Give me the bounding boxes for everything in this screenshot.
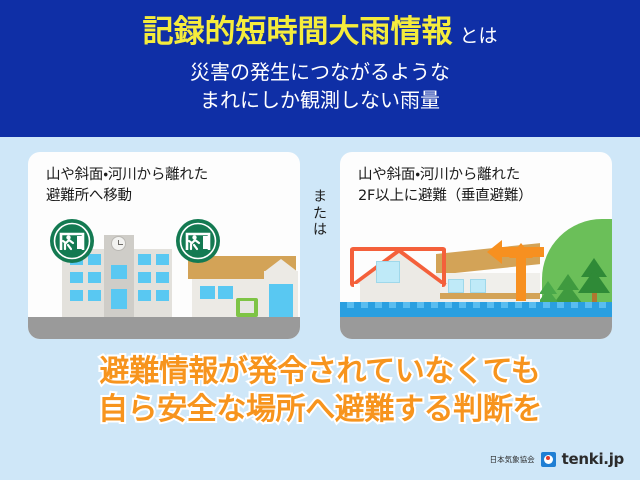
signboard <box>236 298 258 317</box>
evacuation-shelter-badge-icon <box>176 219 220 263</box>
header-banner: 記録的短時間大雨情報 とは 災害の発生につながるような まれにしか観測しない雨量 <box>0 0 640 137</box>
window <box>70 290 83 301</box>
or-connector-char-3: は <box>306 222 334 239</box>
community-hall-door <box>269 284 293 317</box>
association-name: 日本気象協会 <box>490 454 535 465</box>
right-panel-caption-line-2: 2F以上に避難（垂直避難） <box>358 186 604 207</box>
call-to-action-banner: 避難情報が発令されていなくても 自ら安全な場所へ避難する判断を 日本気象協会 t… <box>0 344 640 480</box>
options-section: 山や斜面・河川から離れた 避難所へ移動 <box>0 137 640 344</box>
page-title-suffix: とは <box>459 27 497 46</box>
window <box>88 272 101 283</box>
left-panel-caption-line-1: 山や斜面・河川から離れた <box>46 165 292 186</box>
highlight-window <box>376 261 400 283</box>
window <box>138 254 151 265</box>
or-connector: ま た は <box>306 189 334 239</box>
left-panel-caption: 山や斜面・河川から離れた 避難所へ移動 <box>46 165 292 207</box>
cta-line-1: 避難情報が発令されていなくても <box>100 353 541 391</box>
infographic-canvas: 記録的短時間大雨情報 とは 災害の発生につながるような まれにしか観測しない雨量… <box>0 0 640 480</box>
ground-strip <box>340 317 612 339</box>
brand-name: tenki.jp <box>562 450 624 468</box>
window <box>70 272 83 283</box>
option-panel-vertical-evacuation: 山や斜面・河川から離れた 2F以上に避難（垂直避難） <box>340 152 612 339</box>
window <box>138 272 151 283</box>
window <box>111 265 127 279</box>
window <box>218 286 233 299</box>
window <box>138 290 151 301</box>
header-subtitle-line-2: まれにしか観測しない雨量 <box>190 87 450 115</box>
tenki-jp-cube-logo-icon <box>541 452 556 467</box>
option-panel-horizontal-evacuation: 山や斜面・河川から離れた 避難所へ移動 <box>28 152 300 339</box>
window <box>88 290 101 301</box>
right-scene-illustration <box>340 221 612 339</box>
window <box>156 290 169 301</box>
ground-strip <box>28 317 300 339</box>
entrance-window <box>111 289 127 309</box>
evacuation-shelter-badge-icon <box>50 219 94 263</box>
window <box>448 279 464 293</box>
window <box>470 279 486 293</box>
tree <box>578 258 610 303</box>
right-panel-caption-line-1: 山や斜面・河川から離れた <box>358 165 604 186</box>
or-connector-char-1: ま <box>306 189 334 206</box>
footer-branding: 日本気象協会 tenki.jp <box>490 450 624 468</box>
header-title-row: 記録的短時間大雨情報 とは <box>142 17 497 48</box>
clock-icon <box>111 236 126 251</box>
left-scene-illustration <box>28 221 300 339</box>
window <box>156 254 169 265</box>
page-title: 記録的短時間大雨情報 <box>142 17 452 48</box>
left-panel-caption-line-2: 避難所へ移動 <box>46 186 292 207</box>
window <box>156 272 169 283</box>
window <box>200 286 215 299</box>
header-subtitle-line-1: 災害の発生につながるような <box>190 59 450 87</box>
left-arrow-icon <box>502 247 544 257</box>
cta-line-2: 自ら安全な場所へ避難する判断を <box>98 391 542 429</box>
header-subtitle: 災害の発生につながるような まれにしか観測しない雨量 <box>190 59 450 114</box>
up-arrow-icon <box>516 257 526 301</box>
or-connector-char-2: た <box>306 206 334 223</box>
right-panel-caption: 山や斜面・河川から離れた 2F以上に避難（垂直避難） <box>358 165 604 207</box>
